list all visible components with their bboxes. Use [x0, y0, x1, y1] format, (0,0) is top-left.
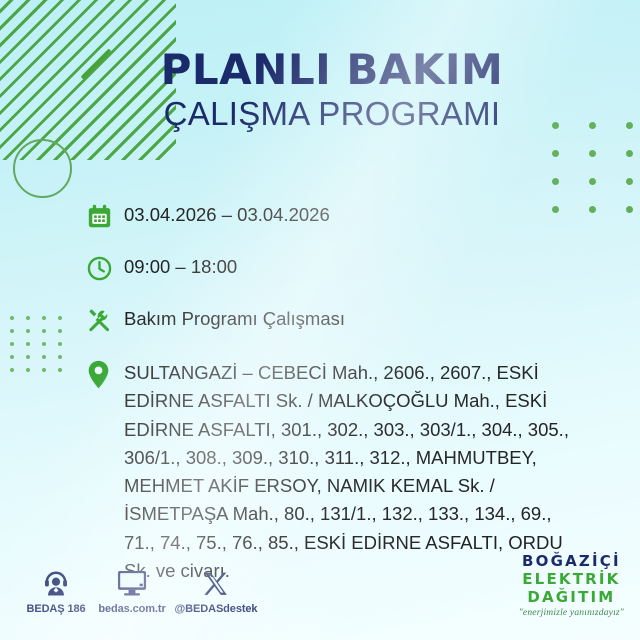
date-range-text: 03.04.2026 – 03.04.2026: [124, 200, 330, 228]
dot: [42, 368, 46, 372]
dot: [10, 342, 14, 346]
dot: [10, 329, 14, 333]
dot-grid-left-decoration: [10, 316, 74, 381]
footer-label: @BEDASdestek: [162, 603, 270, 615]
dot: [626, 178, 633, 185]
circle-outline-decoration: [13, 139, 72, 198]
dot: [552, 150, 559, 157]
dot: [10, 316, 14, 320]
brand-line-elektrik: ELEKTRİK: [519, 572, 624, 587]
calendar-icon: [86, 200, 124, 232]
page-subtitle: ÇALIŞMA PROGRAMI: [0, 96, 640, 133]
page-title: PLANLI BAKIM: [0, 48, 640, 92]
detail-row-date: 03.04.2026 – 03.04.2026: [86, 200, 606, 232]
detail-row-work-type: Bakım Programı Çalışması: [86, 304, 606, 336]
dot: [10, 368, 14, 372]
brand-line-bogazici: BOĞAZİÇİ: [519, 554, 624, 569]
dot: [58, 368, 62, 372]
dot: [26, 342, 30, 346]
work-type-text: Bakım Programı Çalışması: [124, 304, 345, 332]
detail-row-time: 09:00 – 18:00: [86, 252, 606, 284]
card-footer: BEDAŞ 186 bedas.com.tr @BEDASdestek: [0, 558, 640, 632]
dot: [42, 329, 46, 333]
dot: [58, 355, 62, 359]
dot: [589, 178, 596, 185]
planned-maintenance-card: PLANLI BAKIM ÇALIŞMA PROGRAMI: [0, 0, 640, 640]
dot: [42, 355, 46, 359]
dot: [26, 355, 30, 359]
address-text: SULTANGAZİ – CEBECİ Mah., 2606., 2607., …: [124, 356, 584, 585]
dot: [552, 178, 559, 185]
x-twitter-icon: [162, 566, 270, 598]
dot: [626, 150, 633, 157]
tools-icon: [86, 304, 124, 336]
footer-contact-x[interactable]: @BEDASdestek: [162, 566, 270, 615]
dot: [42, 316, 46, 320]
dot: [26, 316, 30, 320]
dot: [58, 342, 62, 346]
card-header: PLANLI BAKIM ÇALIŞMA PROGRAMI: [0, 48, 640, 133]
clock-icon: [86, 252, 124, 284]
location-pin-icon: [86, 356, 124, 390]
dot: [10, 355, 14, 359]
dot: [26, 368, 30, 372]
dot: [26, 329, 30, 333]
detail-row-address: SULTANGAZİ – CEBECİ Mah., 2606., 2607., …: [86, 356, 606, 585]
dot: [626, 206, 633, 213]
dot: [58, 329, 62, 333]
maintenance-details: 03.04.2026 – 03.04.2026 09:00 – 18:00: [86, 200, 606, 585]
brand-line-dagitim: DAĞITIM: [519, 590, 624, 605]
bedas-logo: BOĞAZİÇİ ELEKTRİK DAĞITIM "enerjimizle y…: [519, 554, 624, 619]
brand-tagline: "enerjimizle yanınızdayız": [519, 609, 624, 619]
dot: [58, 316, 62, 320]
dot: [589, 150, 596, 157]
dot: [42, 342, 46, 346]
time-range-text: 09:00 – 18:00: [124, 252, 237, 280]
